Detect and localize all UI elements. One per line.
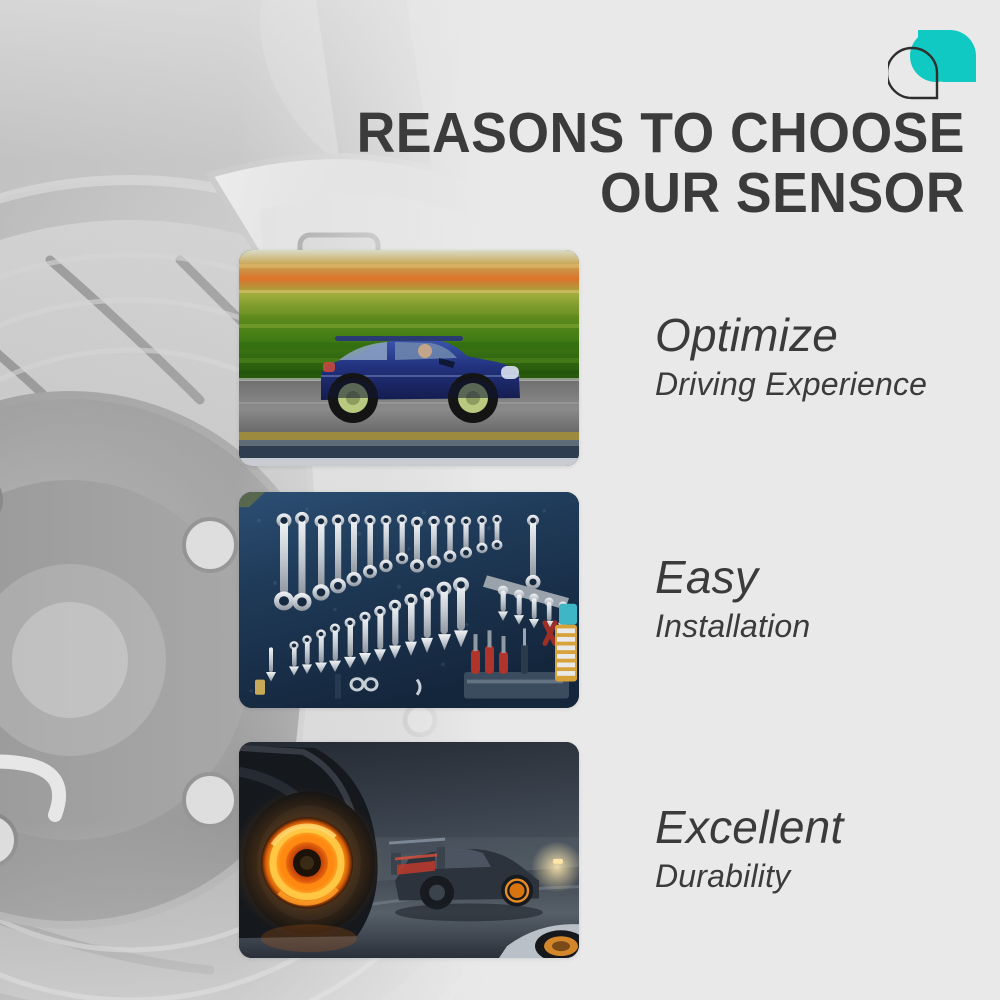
blue-car-speed-image (239, 250, 579, 466)
feature-title: Optimize (655, 312, 927, 358)
feature-row-optimize: Optimize Driving Experience (239, 250, 979, 466)
feature-image-driving[interactable] (239, 250, 579, 466)
feature-subtitle: Driving Experience (655, 364, 927, 404)
feature-title: Excellent (655, 804, 843, 850)
feature-caption-easy: Easy Installation (655, 554, 810, 646)
brand-logo-icon (888, 22, 978, 104)
feature-image-durability[interactable] (239, 742, 579, 958)
feature-image-tools[interactable] (239, 492, 579, 708)
night-racecar-glowing-brake-image (239, 742, 579, 958)
feature-row-easy: Easy Installation (239, 492, 979, 708)
brand-logo[interactable] (888, 22, 978, 104)
feature-subtitle: Durability (655, 856, 843, 896)
wrench-wall-image (239, 492, 579, 708)
feature-caption-optimize: Optimize Driving Experience (655, 312, 927, 404)
feature-title: Easy (655, 554, 810, 600)
page-title: REASONS TO CHOOSE OUR SENSOR (114, 104, 965, 224)
feature-caption-excellent: Excellent Durability (655, 804, 843, 896)
feature-subtitle: Installation (655, 606, 810, 646)
feature-row-excellent: Excellent Durability (239, 742, 979, 958)
